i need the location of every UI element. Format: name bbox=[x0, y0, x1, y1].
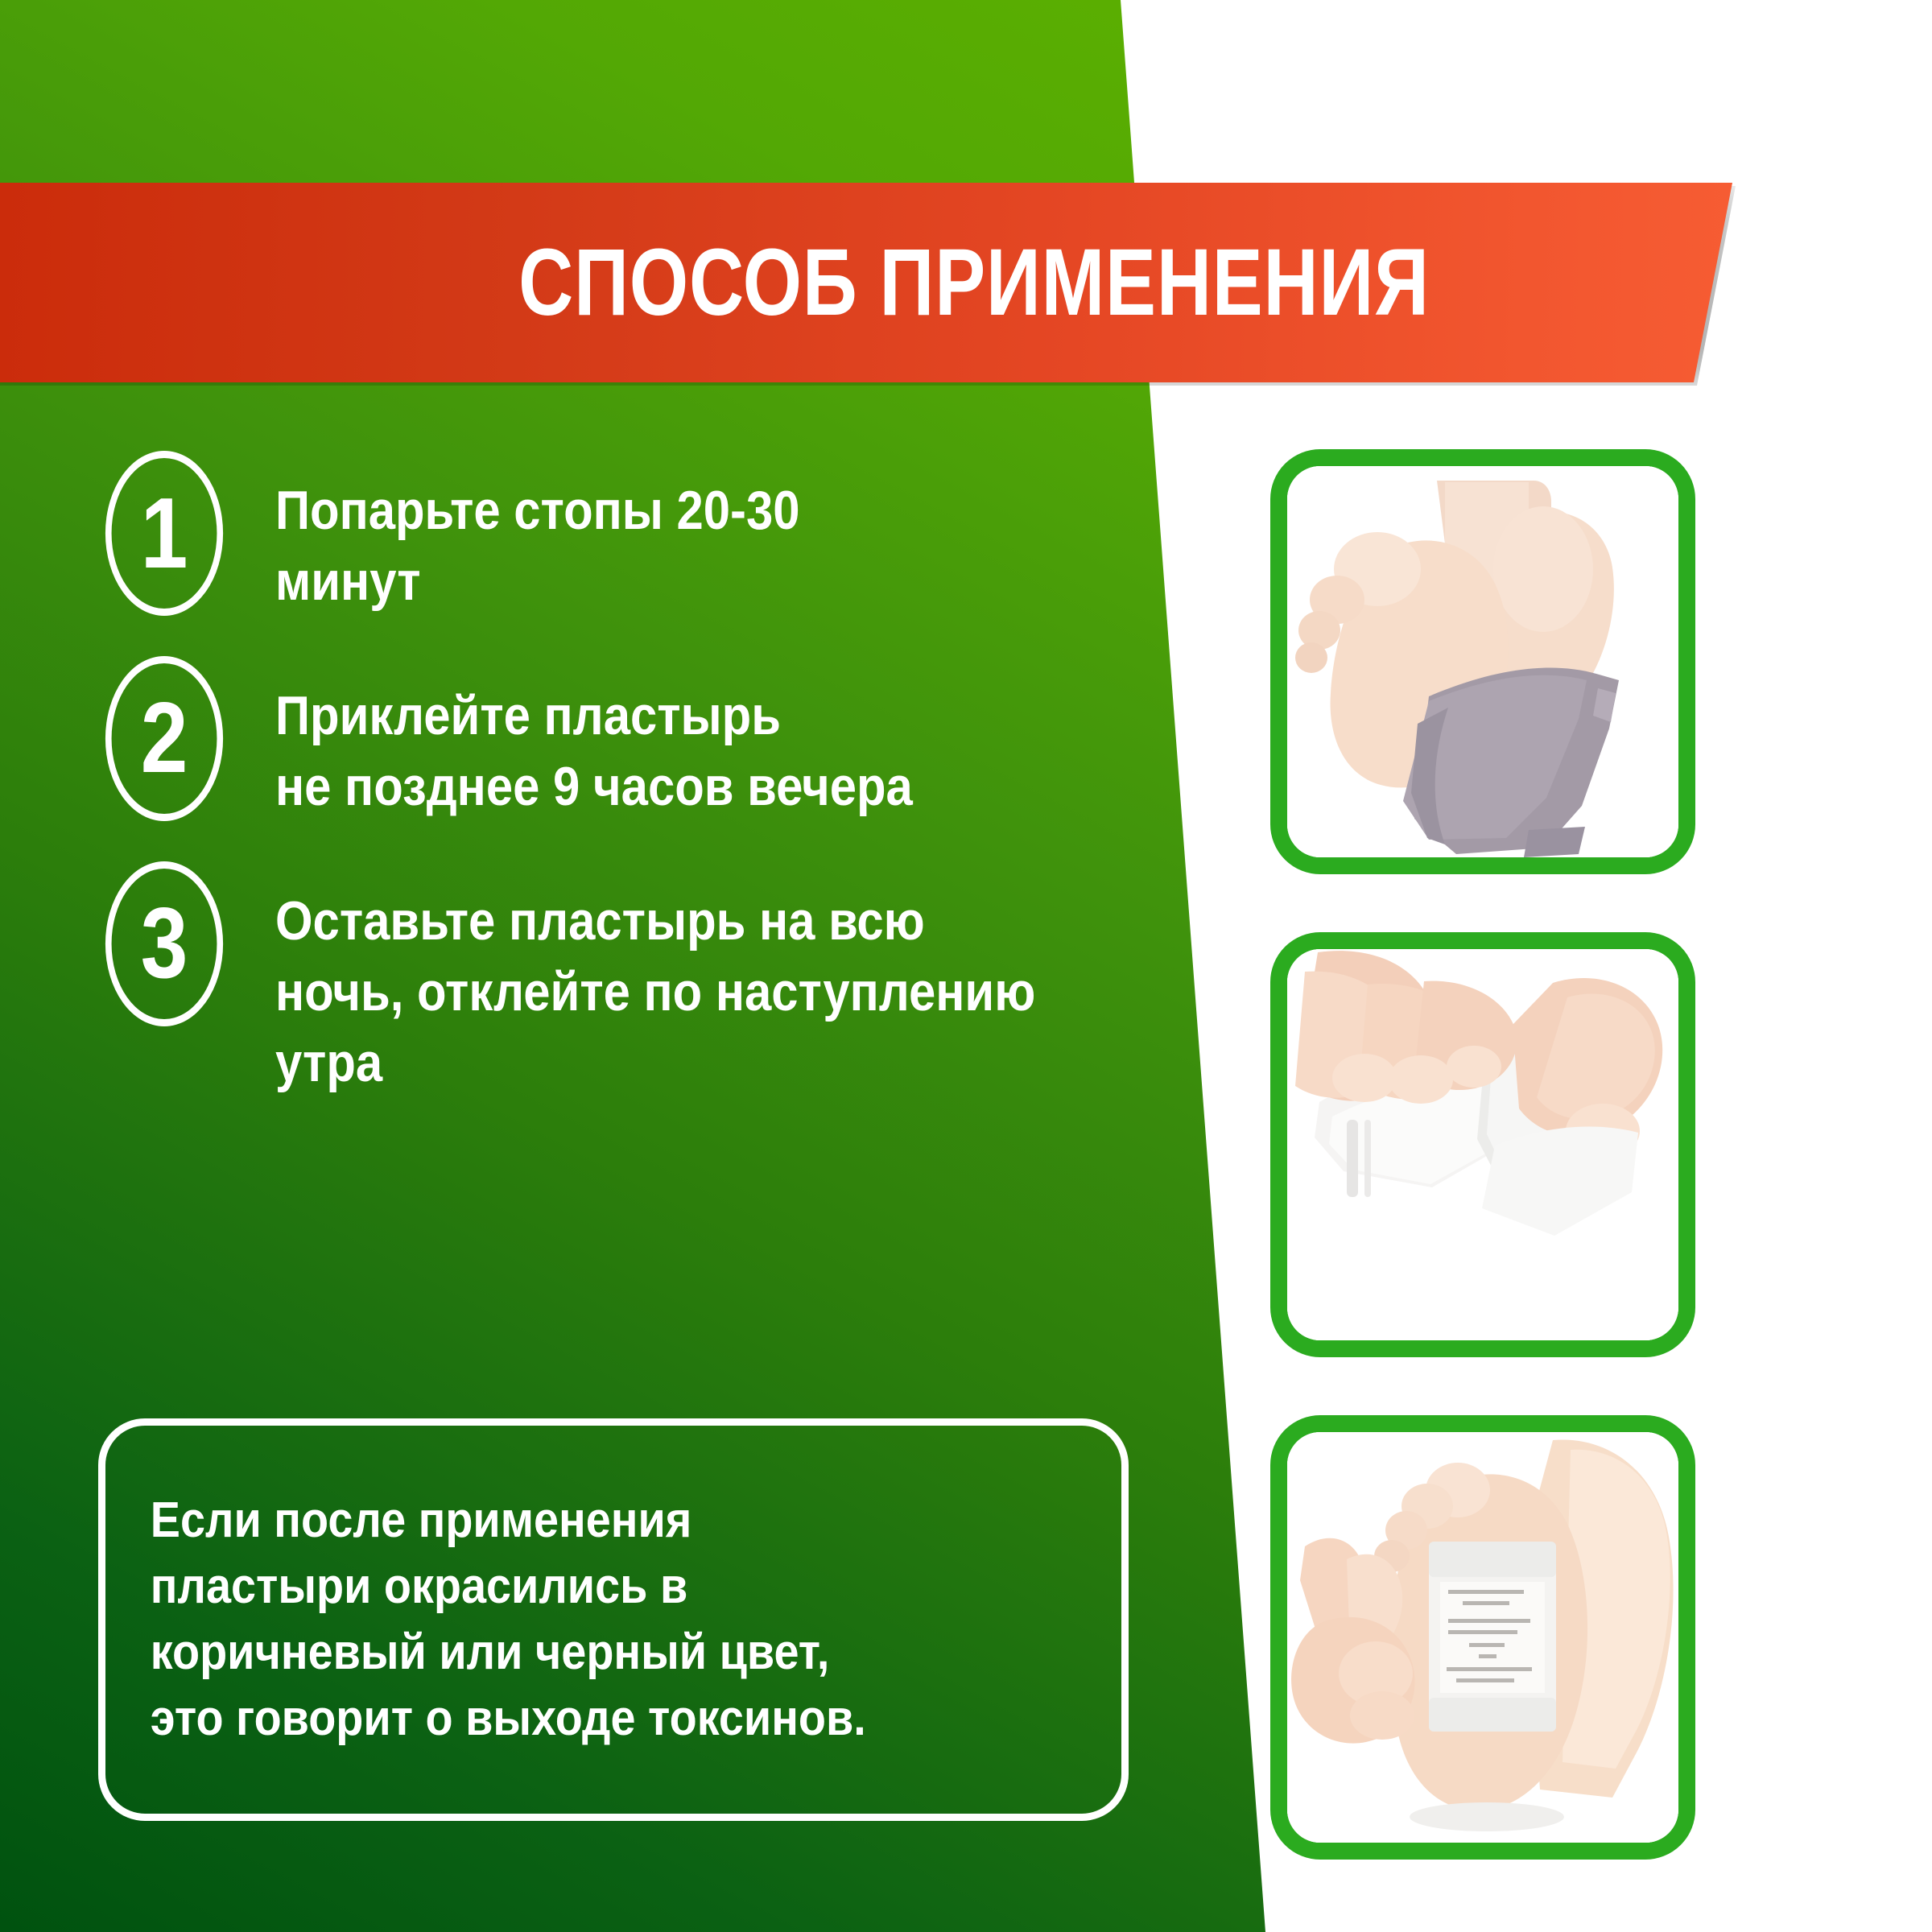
photo-card-foot-drying bbox=[1270, 449, 1695, 874]
step-text-2: Приклейте пластырь не позднее 9 часов ве… bbox=[275, 680, 913, 823]
steps-list: 1 Попарьте стопы 20-30 минут 2 Приклейте… bbox=[0, 451, 1207, 1133]
step-item-2: 2 Приклейте пластырь не позднее 9 часов … bbox=[0, 656, 1207, 823]
toxins-note-box: Если после применения пластыри окрасилис… bbox=[98, 1418, 1129, 1821]
step-number-badge-1: 1 bbox=[105, 451, 223, 616]
photo-card-patch-on-foot bbox=[1270, 1415, 1695, 1860]
page-title: СПОСОБ ПРИМЕНЕНИЯ bbox=[555, 183, 1393, 382]
poster-canvas: СПОСОБ ПРИМЕНЕНИЯ 1 Попарьте стопы 20-30… bbox=[0, 0, 1932, 1932]
step-number-badge-3: 3 bbox=[105, 861, 223, 1026]
step-item-1: 1 Попарьте стопы 20-30 минут bbox=[0, 451, 1207, 617]
photo-peeling-patch-image bbox=[1287, 949, 1678, 1340]
step-item-3: 3 Оставьте пластырь на всю ночь, отклейт… bbox=[0, 861, 1207, 1099]
photo-card-peeling-patch bbox=[1270, 932, 1695, 1357]
step-text-3: Оставьте пластырь на всю ночь, отклейте … bbox=[275, 885, 1035, 1099]
step-number-badge-2: 2 bbox=[105, 656, 223, 821]
photo-foot-drying-image bbox=[1287, 466, 1678, 857]
step-text-1: Попарьте стопы 20-30 минут bbox=[275, 475, 800, 617]
photo-patch-on-foot-image bbox=[1287, 1432, 1678, 1843]
toxins-note-text: Если после применения пластыри окрасилис… bbox=[105, 1488, 911, 1751]
